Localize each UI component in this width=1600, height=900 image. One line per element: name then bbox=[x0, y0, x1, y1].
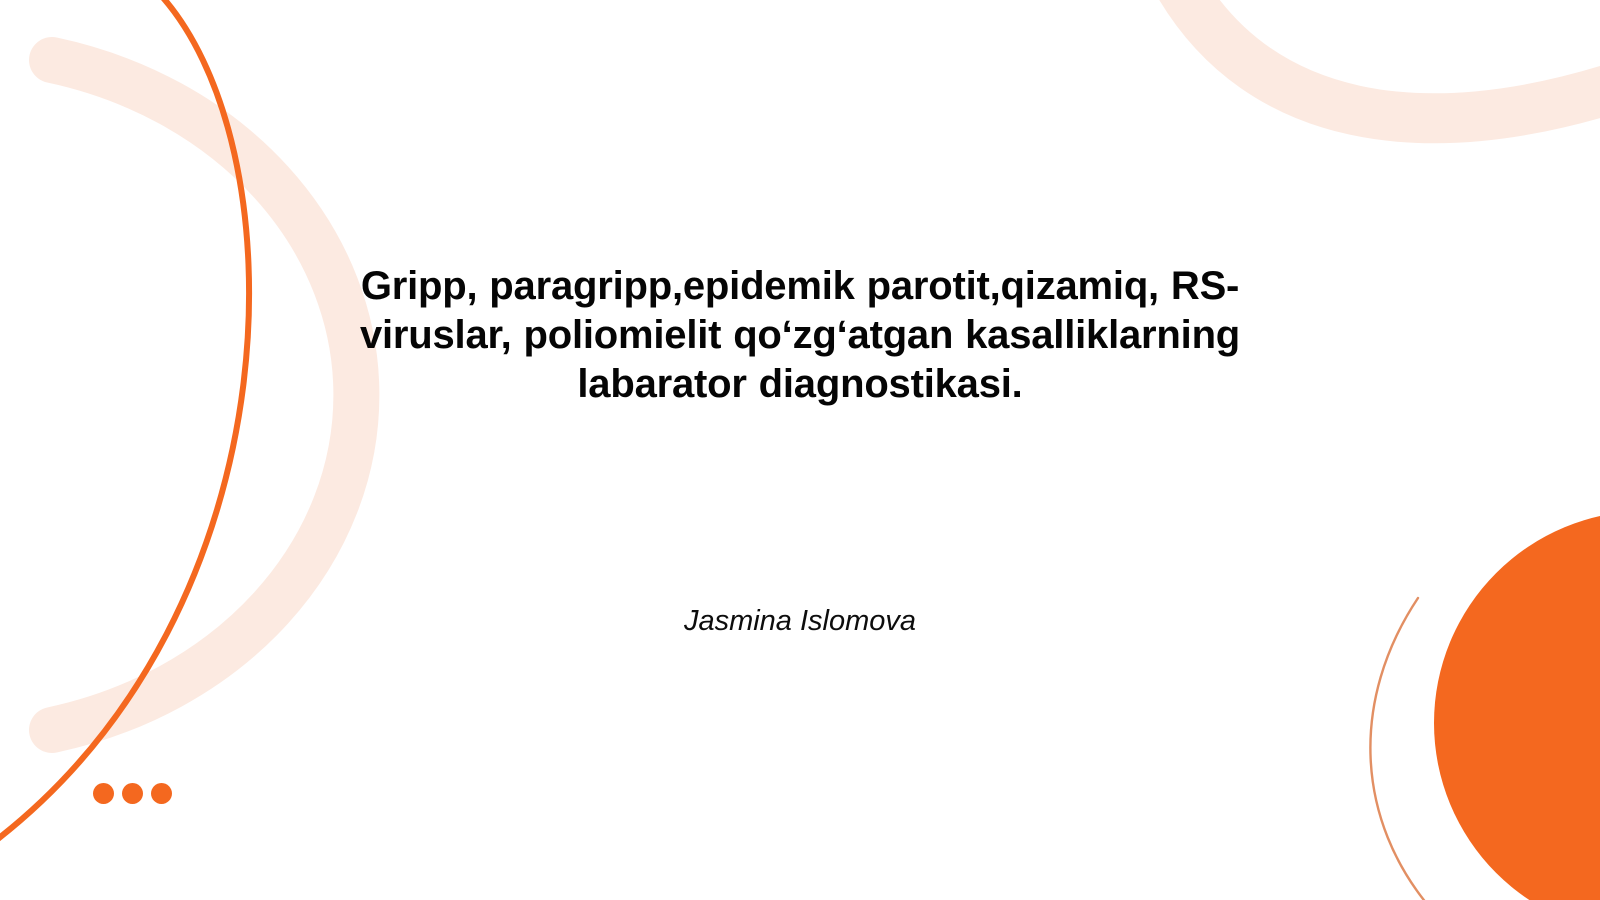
title-slide: Gripp, paragripp,epidemik parotit,qizami… bbox=[0, 0, 1600, 900]
author-block: Jasmina Islomova bbox=[300, 603, 1300, 639]
dot-icon bbox=[122, 783, 143, 804]
page-title: Gripp, paragripp,epidemik parotit,qizami… bbox=[300, 262, 1300, 409]
dot-icon bbox=[151, 783, 172, 804]
author-name: Jasmina Islomova bbox=[300, 603, 1300, 639]
bottom-left-three-dots bbox=[93, 783, 172, 804]
dot-icon bbox=[93, 783, 114, 804]
title-block: Gripp, paragripp,epidemik parotit,qizami… bbox=[300, 262, 1300, 409]
slide-content: Gripp, paragripp,epidemik parotit,qizami… bbox=[0, 0, 1600, 900]
